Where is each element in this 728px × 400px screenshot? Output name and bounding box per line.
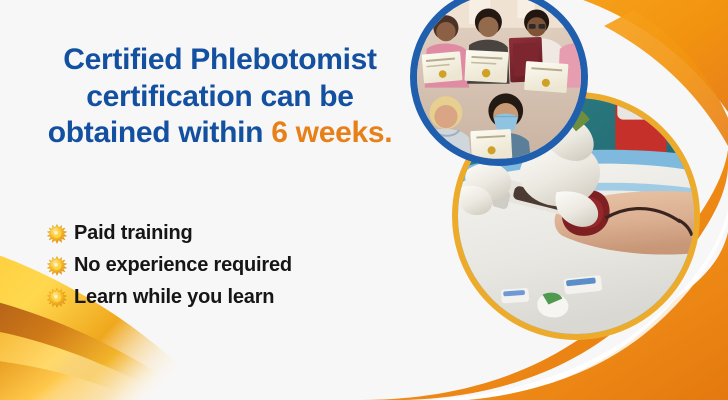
- swoosh-bottom-left-4: [0, 360, 136, 400]
- headline-line-3-prefix: obtained within: [48, 116, 272, 149]
- list-item: Learn while you learn: [46, 283, 292, 312]
- swoosh-bottom-left-3: [0, 330, 172, 400]
- list-item: No experience required: [46, 251, 292, 280]
- sunburst-icon: [46, 223, 68, 245]
- swoosh-bottom-left-2: [0, 300, 196, 400]
- list-item: Paid training: [46, 219, 292, 248]
- sunburst-icon: [46, 287, 68, 309]
- list-item-label: No experience required: [74, 254, 292, 277]
- headline-line-1: Certified Phlebotomist: [0, 42, 440, 79]
- headline-line-2: certification can be: [0, 79, 440, 116]
- headline-line-3: obtained within 6 weeks.: [0, 115, 440, 152]
- benefits-list: Paid training No experience required Lea…: [46, 219, 292, 315]
- headline: Certified Phlebotomist certification can…: [0, 42, 440, 152]
- sunburst-icon: [46, 255, 68, 277]
- phlebotomy-promo-banner: Certified Phlebotomist certification can…: [0, 0, 728, 400]
- list-item-label: Learn while you learn: [74, 286, 274, 309]
- list-item-label: Paid training: [74, 222, 193, 245]
- headline-accent-duration: 6 weeks.: [271, 116, 392, 149]
